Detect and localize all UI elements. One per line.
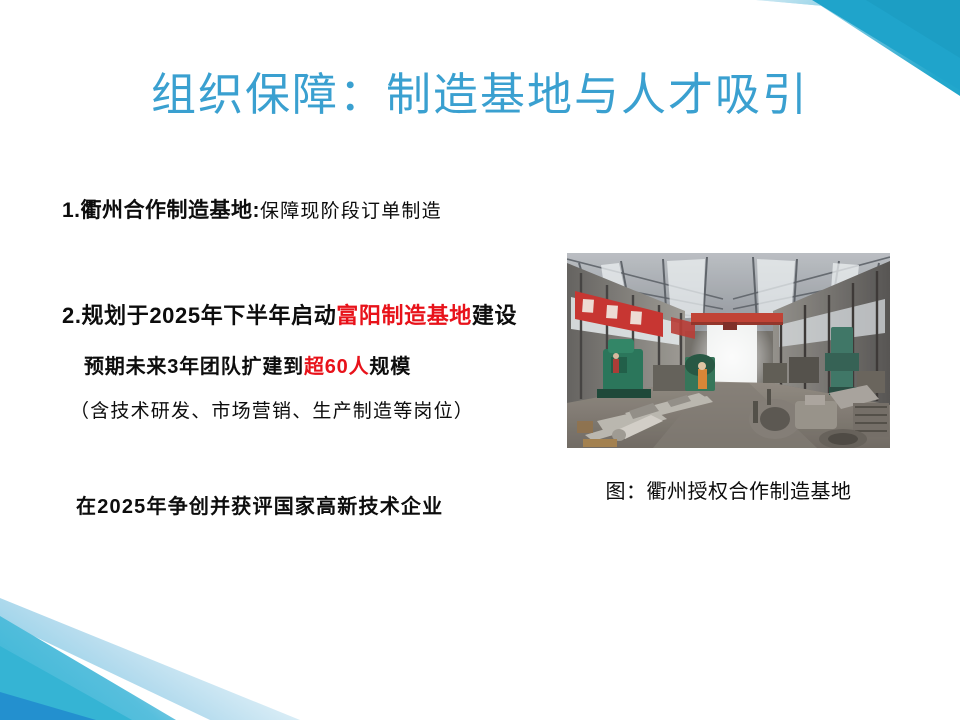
bullet-line-4: （含技术研发、市场营销、生产制造等岗位） — [70, 396, 474, 423]
page-title: 组织保障：制造基地与人才吸引 — [0, 68, 960, 121]
bullet-3-after: 规模 — [369, 356, 411, 378]
bullet-line-5: 在2025年争创并获评国家高新技术企业 — [76, 490, 443, 519]
bullet-2-after: 建设 — [472, 303, 517, 328]
bullet-line-3: 预期未来3年团队扩建到超60人规模 — [84, 350, 411, 379]
bullet-line-2: 2.规划于2025年下半年启动富阳制造基地建设 — [62, 298, 517, 330]
factory-photo — [567, 253, 890, 448]
bullet-3-before: 预期未来3年团队扩建到 — [84, 356, 304, 378]
bullet-3-highlight: 超60人 — [304, 356, 369, 378]
bottom-left-decoration — [0, 580, 300, 720]
bullet-1-lead: 1.衢州合作制造基地: — [62, 199, 260, 222]
bullet-1-tail: 保障现阶段订单制造 — [260, 201, 442, 222]
bullet-2-highlight: 富阳制造基地 — [336, 303, 472, 328]
slide-canvas: 组织保障：制造基地与人才吸引 1.衢州合作制造基地:保障现阶段订单制造 2.规划… — [0, 0, 960, 720]
bullet-line-1: 1.衢州合作制造基地:保障现阶段订单制造 — [62, 194, 442, 224]
bullet-2-before: 2.规划于2025年下半年启动 — [62, 303, 336, 328]
photo-caption: 图：衢州授权合作制造基地 — [567, 475, 890, 504]
